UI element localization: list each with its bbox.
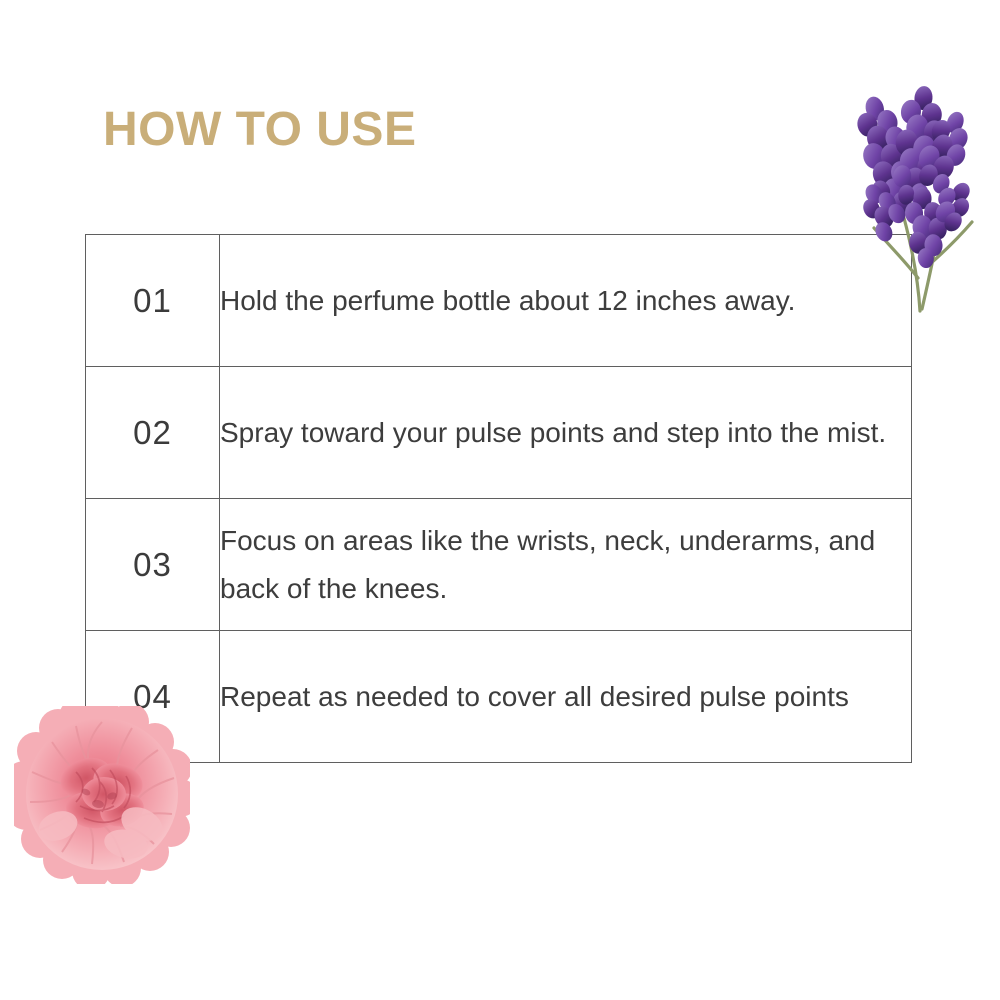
step-number: 01 [86,235,220,367]
step-number: 03 [86,499,220,631]
step-number: 04 [86,631,220,763]
step-number: 02 [86,367,220,499]
page-title: HOW TO USE [103,104,416,157]
step-text-value: Focus on areas like the wrists, neck, un… [220,517,911,613]
table-row: 01 Hold the perfume bottle about 12 inch… [86,235,912,367]
step-text: Hold the perfume bottle about 12 inches … [220,235,912,367]
step-text-value: Spray toward your pulse points and step … [220,409,911,457]
step-text: Spray toward your pulse points and step … [220,367,912,499]
step-text: Repeat as needed to cover all desired pu… [220,631,912,763]
table-row: 04 Repeat as needed to cover all desired… [86,631,912,763]
step-text-value: Repeat as needed to cover all desired pu… [220,673,911,721]
poster-canvas: HOW TO USE [0,0,1000,1000]
how-to-use-steps-table: 01 Hold the perfume bottle about 12 inch… [85,234,912,763]
table-row: 03 Focus on areas like the wrists, neck,… [86,499,912,631]
step-text-value: Hold the perfume bottle about 12 inches … [220,277,911,325]
table-row: 02 Spray toward your pulse points and st… [86,367,912,499]
step-text: Focus on areas like the wrists, neck, un… [220,499,912,631]
